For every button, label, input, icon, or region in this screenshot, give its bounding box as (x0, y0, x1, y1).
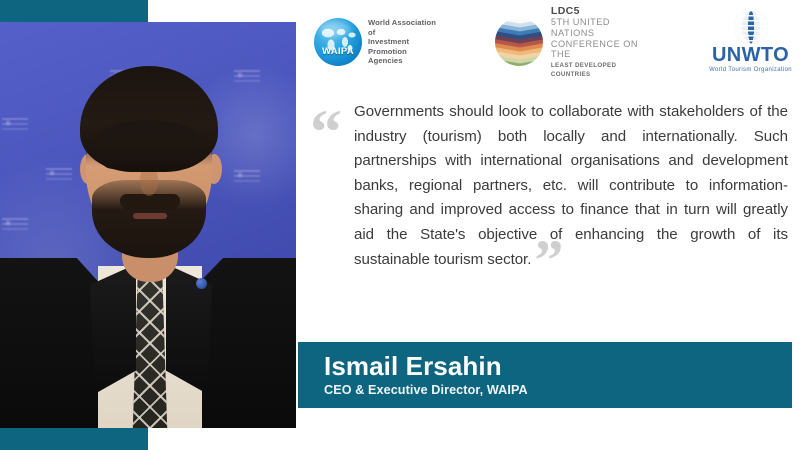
person-figure (0, 22, 296, 428)
ldc5-logo-text: LDC5 5TH UNITED NATIONS CONFERENCE ON TH… (551, 5, 647, 78)
mouth (133, 213, 167, 219)
waipa-wordmark: WAIPA (314, 46, 362, 57)
ldc5-subtitle: 5TH UNITED NATIONS CONFERENCE ON THE (551, 17, 647, 59)
logo-strip: WAIPA World Association of Investment Pr… (298, 6, 792, 78)
globe-highlight (319, 21, 351, 37)
chevron-rosette-icon (495, 18, 543, 66)
ldc5-title: LDC5 (551, 5, 647, 17)
lapel-pin (196, 278, 207, 289)
hair (80, 66, 218, 172)
globe-icon: WAIPA (314, 18, 362, 66)
quote-text: Governments should look to collaborate w… (354, 100, 788, 272)
unwto-subtitle: World Tourism Organization (709, 66, 792, 74)
ldc5-tagline: LEAST DEVELOPED COUNTRIES (551, 61, 647, 79)
speaker-portrait-photo (0, 22, 296, 428)
quote-block: “ Governments should look to collaborate… (310, 100, 788, 272)
globe-meridians (734, 10, 768, 44)
quote-open-mark: “ (310, 106, 340, 157)
globe-grid-icon (734, 10, 768, 44)
speaker-name: Ismail Ersahin (324, 351, 792, 382)
nose (140, 168, 158, 196)
speaker-name-banner: Ismail Ersahin CEO & Executive Director,… (298, 342, 792, 408)
waipa-logo-text: World Association of Investment Promotio… (368, 18, 439, 65)
decorative-bar-bottom-left (0, 428, 148, 450)
decorative-bar-top-left (0, 0, 148, 22)
quote-card: WAIPA World Association of Investment Pr… (0, 0, 800, 450)
waipa-logo: WAIPA World Association of Investment Pr… (314, 18, 439, 66)
unwto-name: UNWTO (709, 45, 792, 66)
ldc5-logo: LDC5 5TH UNITED NATIONS CONFERENCE ON TH… (495, 5, 647, 78)
necktie (132, 272, 168, 428)
speaker-role: CEO & Executive Director, WAIPA (324, 382, 792, 399)
quote-body: Governments should look to collaborate w… (354, 103, 788, 268)
moustache (120, 194, 180, 210)
unwto-logo: UNWTO World Tourism Organization (709, 10, 792, 74)
